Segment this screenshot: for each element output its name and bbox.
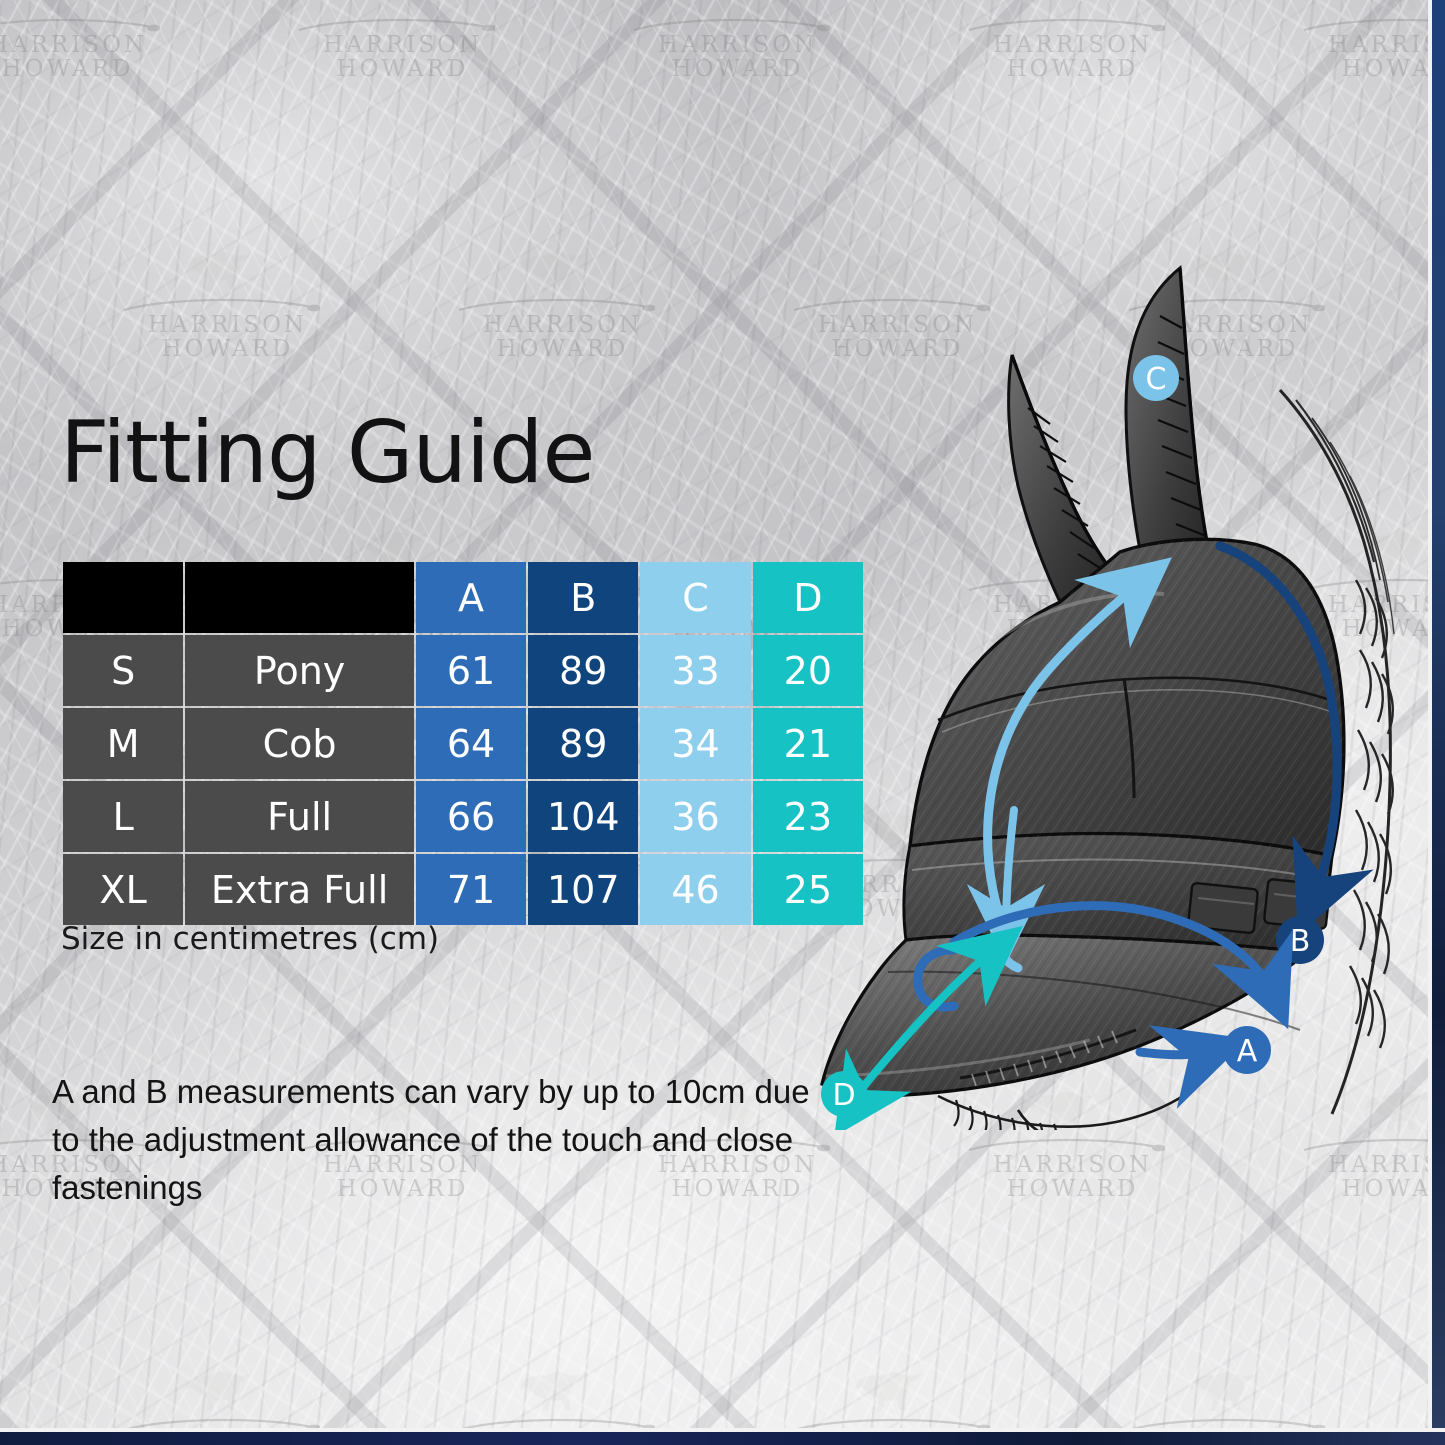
cell-a: 71 (416, 854, 526, 925)
horse-fly-mask-illustration: C B A D (760, 250, 1445, 1130)
watermark-horse-logo (517, 248, 595, 296)
table-row: S Pony 61 89 33 20 (63, 635, 863, 706)
watermark-horse-logo (517, 1368, 595, 1416)
watermark-harrison-howard: HARRISONHOWARD (295, 18, 510, 81)
cell-size: S (63, 635, 183, 706)
horse-ear-left (1009, 355, 1116, 602)
horse-ear-right (1126, 268, 1210, 580)
frame-right (1432, 0, 1445, 1445)
marker-a-label: A (1237, 1034, 1258, 1069)
header-cell-a: A (416, 562, 526, 633)
cell-a: 66 (416, 781, 526, 852)
cell-b: 89 (528, 708, 638, 779)
cell-b: 104 (528, 781, 638, 852)
cell-name: Extra Full (185, 854, 414, 925)
cell-a: 64 (416, 708, 526, 779)
page-title: Fitting Guide (60, 403, 594, 503)
size-chart-table: A B C D S Pony 61 89 33 20 M Cob 64 89 3… (61, 560, 865, 927)
measurement-disclaimer: A and B measurements can vary by up to 1… (52, 1068, 842, 1212)
watermark-harrison-howard: HARRISONHOWARD (1300, 1138, 1445, 1201)
marker-d-label: D (832, 1078, 855, 1113)
watermark-horse-logo (182, 1368, 260, 1416)
cell-c: 46 (640, 854, 750, 925)
cell-c: 33 (640, 635, 750, 706)
header-cell-name-blank (185, 562, 414, 633)
watermark-horse-logo (852, 1368, 930, 1416)
cell-a: 61 (416, 635, 526, 706)
table-units-note: Size in centimetres (cm) (61, 921, 439, 957)
header-cell-c: C (640, 562, 750, 633)
cell-size: M (63, 708, 183, 779)
watermark-horse-logo (692, 0, 770, 16)
cell-size: L (63, 781, 183, 852)
watermark-horse-logo (182, 248, 260, 296)
marker-c-label: C (1146, 362, 1167, 397)
header-cell-b: B (528, 562, 638, 633)
cell-c: 34 (640, 708, 750, 779)
watermark-harrison-howard: HARRISONHOWARD (630, 18, 845, 81)
cell-name: Cob (185, 708, 414, 779)
cell-c: 36 (640, 781, 750, 852)
table-header-row: A B C D (63, 562, 863, 633)
table-row: M Cob 64 89 34 21 (63, 708, 863, 779)
watermark-harrison-howard: HARRISONHOWARD (455, 298, 670, 361)
frame-bottom (0, 1432, 1445, 1445)
watermark-harrison-howard: HARRISONHOWARD (965, 18, 1180, 81)
marker-b-label: B (1290, 924, 1311, 959)
cell-size: XL (63, 854, 183, 925)
cell-name: Full (185, 781, 414, 852)
table-row: L Full 66 104 36 23 (63, 781, 863, 852)
poster-canvas: HARRISONHOWARDHARRISONHOWARDHARRISONHOWA… (0, 0, 1445, 1445)
watermark-horse-logo (1187, 1368, 1265, 1416)
watermark-horse-logo (357, 0, 435, 16)
watermark-horse-logo (22, 0, 100, 16)
watermark-harrison-howard: HARRISONHOWARD (1300, 18, 1445, 81)
watermark-horse-logo (1027, 0, 1105, 16)
watermark-harrison-howard: HARRISONHOWARD (965, 1138, 1180, 1201)
table-row: XL Extra Full 71 107 46 25 (63, 854, 863, 925)
watermark-harrison-howard: HARRISONHOWARD (0, 18, 175, 81)
cell-b: 89 (528, 635, 638, 706)
cell-name: Pony (185, 635, 414, 706)
cell-b: 107 (528, 854, 638, 925)
watermark-harrison-howard: HARRISONHOWARD (120, 298, 335, 361)
header-cell-size-blank (63, 562, 183, 633)
fly-mask-nose-flap (822, 935, 1308, 1096)
